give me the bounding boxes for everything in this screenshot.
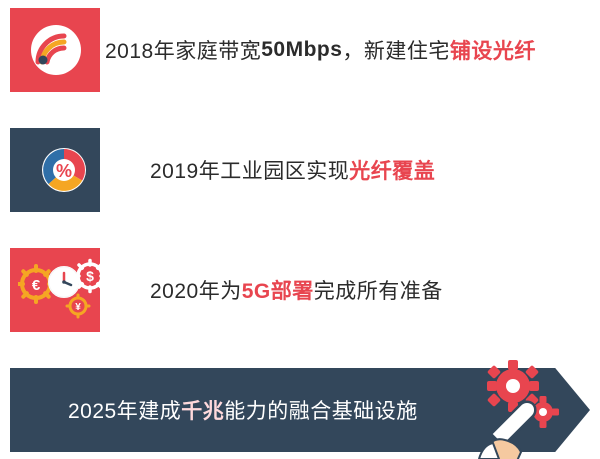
timeline-text-2020: 2020年为5G部署完成所有准备 [0,248,600,332]
text-seg-3: 能力的融合基础设施 [224,395,418,425]
text-seg-4: 铺设光纤 [450,35,536,65]
text-seg-2: 光纤覆盖 [349,155,435,185]
text-seg-1: 2020年为 [150,275,242,305]
text-seg-1: 2019年工业园区实现 [150,155,349,185]
text-seg-2: 50Mbps [261,38,342,62]
text-seg-1: 2018年家庭带宽 [105,35,261,65]
text-seg-3: ，新建住宅 [342,35,450,65]
timeline-text-2019: 2019年工业园区实现光纤覆盖 [0,128,600,212]
text-seg-2: 千兆 [181,395,224,425]
hand-wrench-gear-icon [455,360,575,459]
text-seg-3: 完成所有准备 [314,275,443,305]
text-seg-2: 5G部署 [242,275,314,305]
text-seg-1: 2025年建成 [68,395,181,425]
timeline-text-2018: 2018年家庭带宽50Mbps，新建住宅铺设光纤 [0,8,600,92]
chevron-timeline-diagram: 2018年家庭带宽50Mbps，新建住宅铺设光纤 % 2019年工业园区实现光纤… [0,0,600,459]
